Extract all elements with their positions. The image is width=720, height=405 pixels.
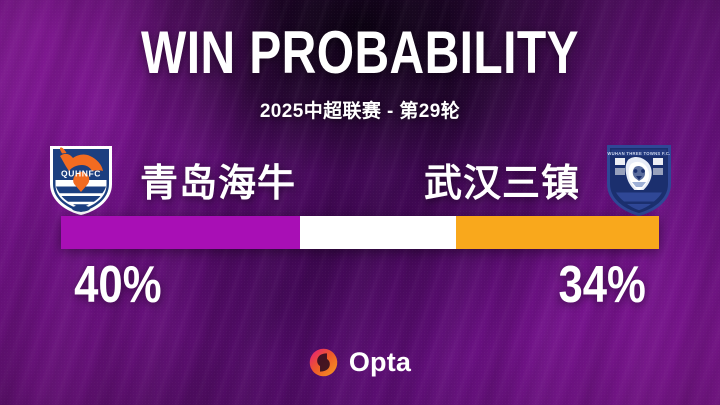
svg-text:QUHNFC: QUHNFC (61, 169, 101, 179)
home-win-percentage: 40% (29, 258, 331, 312)
win-probability-bar (61, 216, 659, 249)
bar-segment-draw (300, 216, 455, 249)
home-team: QUHNFC 青岛海牛 (0, 138, 360, 220)
away-win-percentage: 34% (389, 258, 691, 312)
page-title: WIN PROBABILITY (72, 22, 648, 84)
qingdao-hainiu-crest-icon: QUHNFC (44, 140, 118, 218)
bar-segment-home (61, 216, 300, 249)
opta-branding: Opta (0, 348, 720, 377)
home-team-name: 青岛海牛 (140, 152, 296, 207)
page-subtitle: 2025中超联赛 - 第29轮 (0, 96, 720, 123)
opta-logo-icon (309, 348, 338, 377)
away-team-name: 武汉三镇 (424, 152, 580, 207)
bar-segment-away (456, 216, 659, 249)
teams-row: QUHNFC 青岛海牛 武汉三镇 WUHAN THREE TOWNS F.C. (0, 138, 720, 220)
win-probability-graphic: WIN PROBABILITY 2025中超联赛 - 第29轮 QUHNFC (0, 0, 720, 405)
percentages-row: 40% 34% (0, 258, 720, 312)
wuhan-three-towns-crest-icon: WUHAN THREE TOWNS F.C. (602, 140, 676, 218)
opta-wordmark: Opta (349, 349, 411, 376)
svg-text:WUHAN THREE TOWNS F.C.: WUHAN THREE TOWNS F.C. (607, 151, 670, 156)
away-team: 武汉三镇 WUHAN THREE TOWNS F.C. (360, 138, 720, 220)
